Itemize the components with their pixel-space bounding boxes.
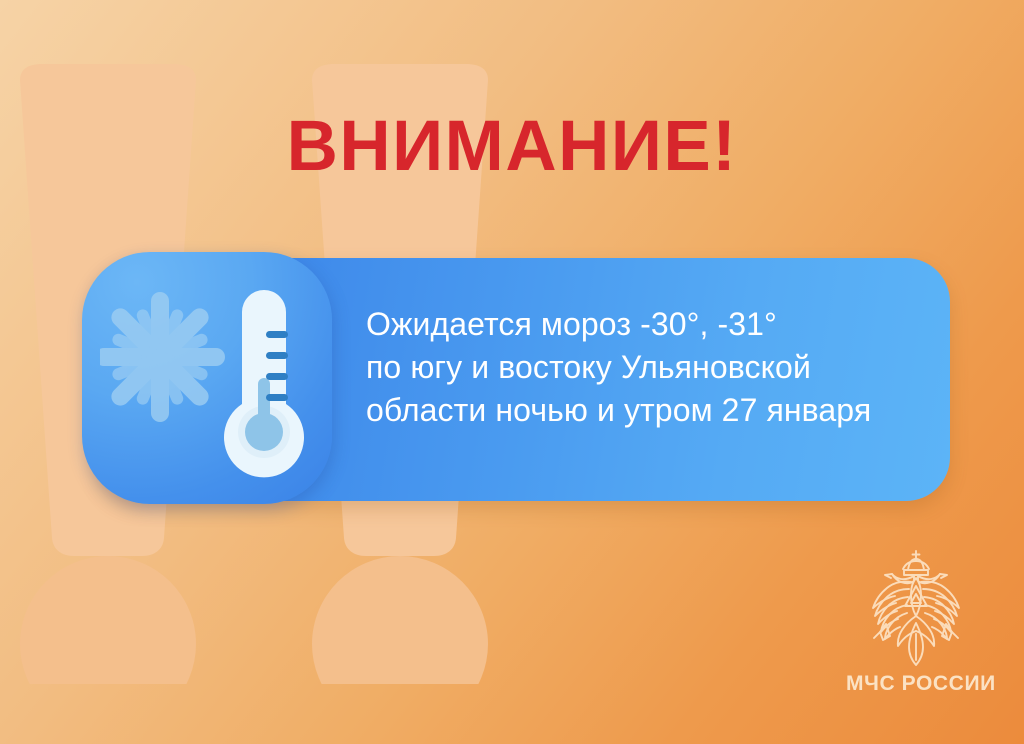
message-line-1: Ожидается мороз -30°, -31° <box>366 303 946 346</box>
message-line-3: области ночью и утром 27 января <box>366 389 946 432</box>
warning-poster: ВНИМАНИЕ! <box>0 0 1024 744</box>
weather-icon-group <box>100 274 314 486</box>
thermometer-icon <box>224 290 304 477</box>
message-line-2: по югу и востоку Ульяновской <box>366 346 946 389</box>
mchs-logo-label: МЧС РОССИИ <box>846 672 986 696</box>
page-title: ВНИМАНИЕ! <box>0 108 1024 186</box>
warning-message: Ожидается мороз -30°, -31° по югу и вост… <box>366 303 946 432</box>
icon-panel <box>82 252 332 504</box>
mchs-logo: МЧС РОССИИ <box>846 548 986 708</box>
mchs-double-headed-eagle-emblem <box>856 548 976 666</box>
